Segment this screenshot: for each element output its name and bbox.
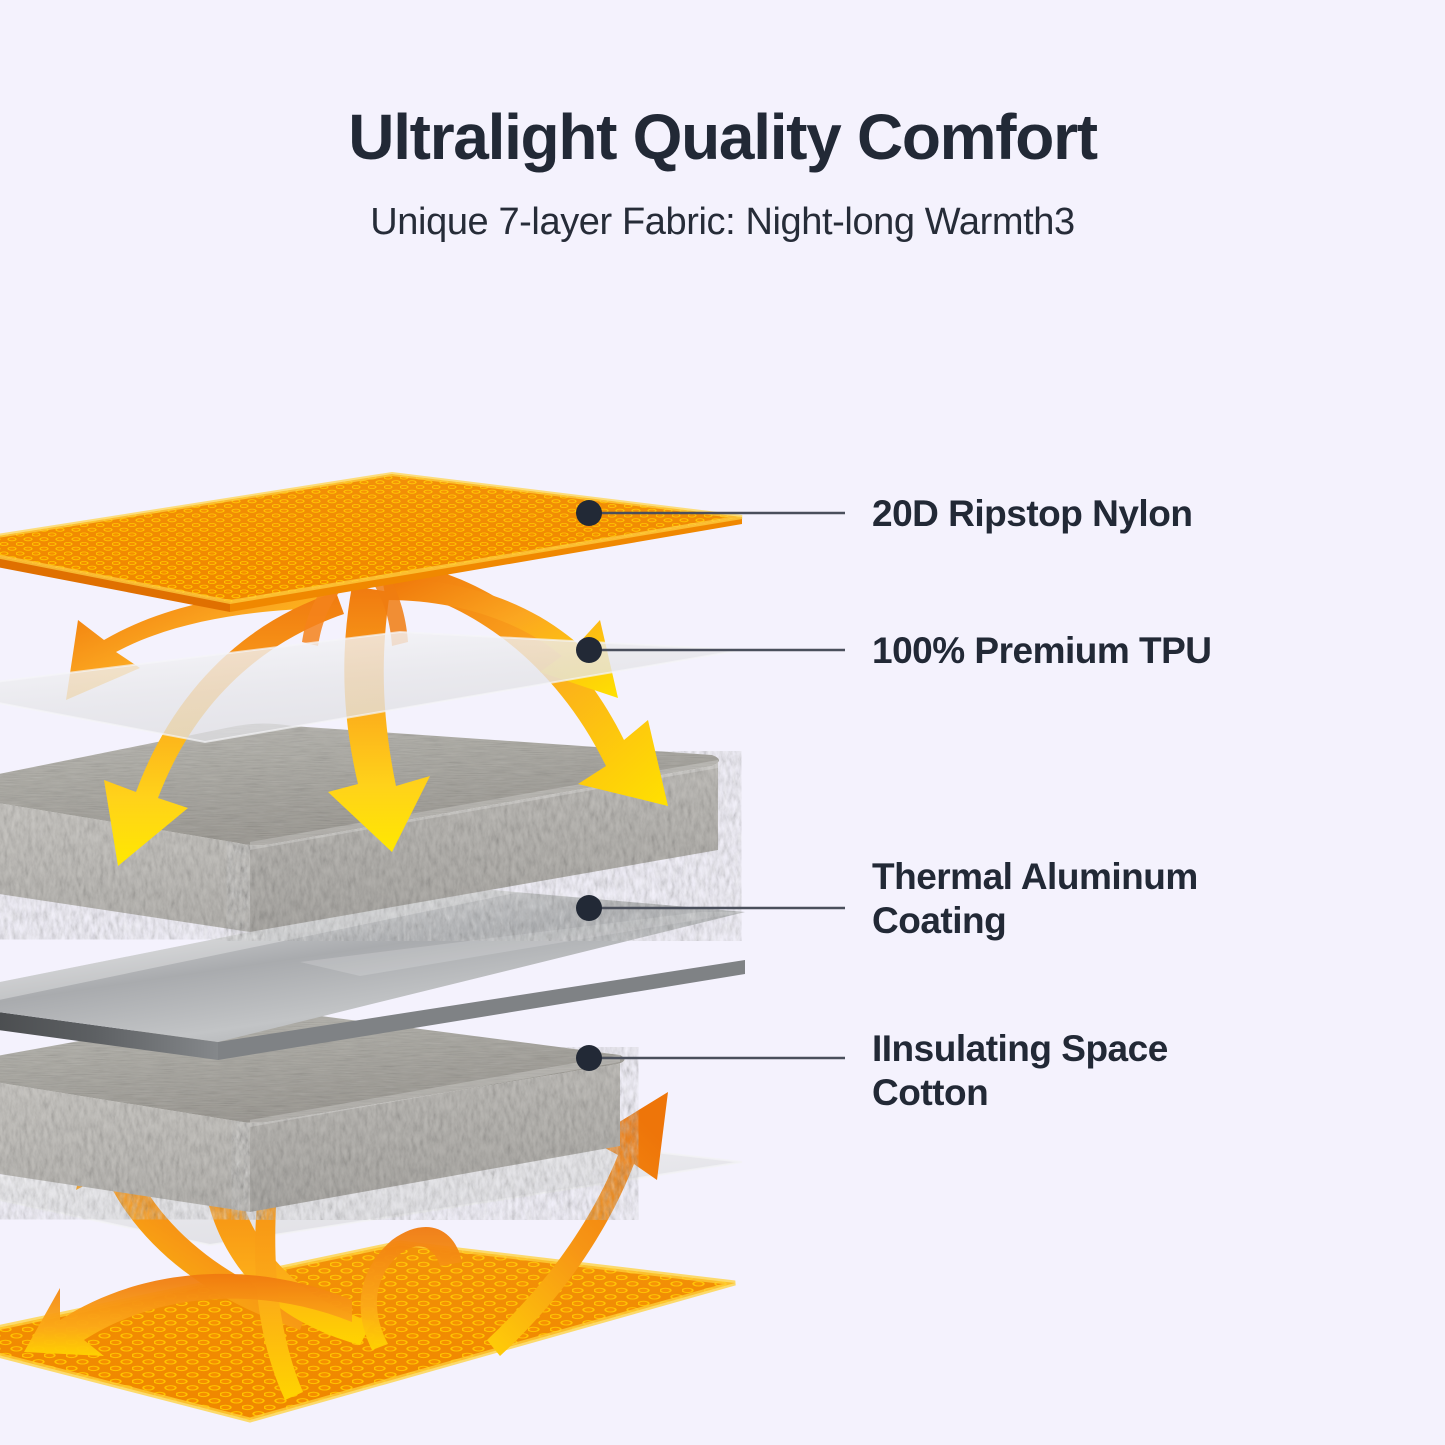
callout-label-nylon: 20D Ripstop Nylon xyxy=(872,492,1192,536)
infographic-page: Ultralight Quality Comfort Unique 7-laye… xyxy=(0,0,1445,1445)
layer-diagram xyxy=(0,0,1445,1445)
connector-dot xyxy=(576,895,602,921)
callout-label-insulating-space-cotton: IInsulating Space Cotton xyxy=(872,1027,1168,1114)
connector-dot xyxy=(576,1045,602,1071)
connector-dot xyxy=(576,500,602,526)
callout-label-tpu: 100% Premium TPU xyxy=(872,629,1212,673)
callout-label-thermal-aluminum-coating: Thermal Aluminum Coating xyxy=(872,855,1198,942)
connector-dot xyxy=(576,637,602,663)
layer-aluminum xyxy=(0,888,745,1060)
